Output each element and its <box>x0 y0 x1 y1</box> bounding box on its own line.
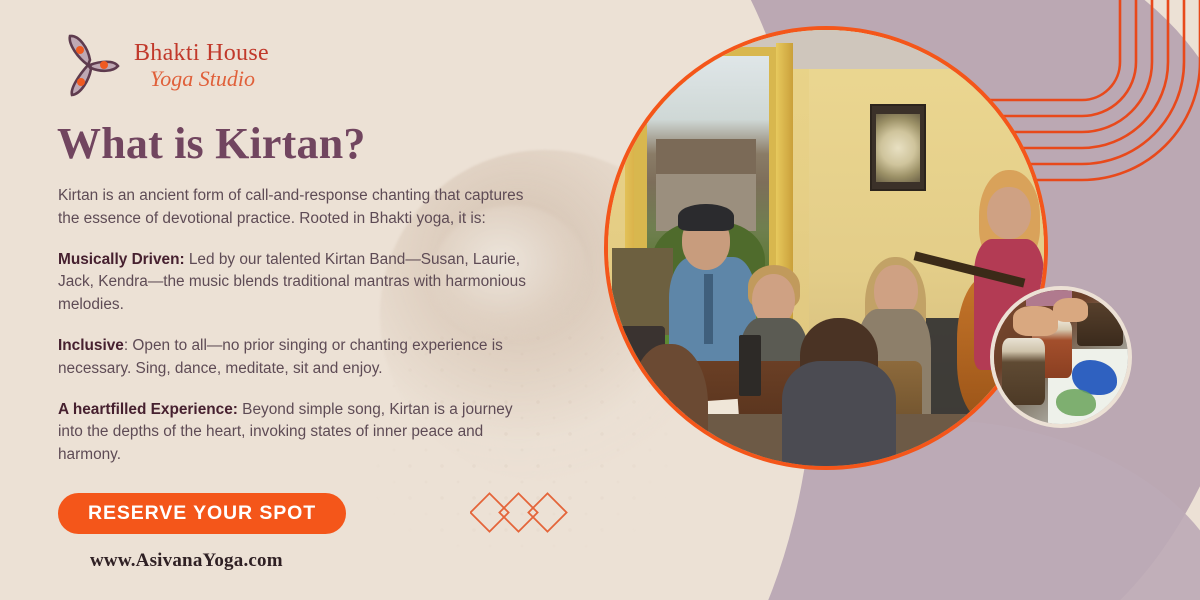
triple-diamond-icon <box>470 492 586 534</box>
point-inclusive: Inclusive: Open to all—no prior singing … <box>58 335 528 381</box>
point-text: : Open to all—no prior singing or chanti… <box>58 337 503 377</box>
point-musically-driven: Musically Driven: Led by our talented Ki… <box>58 249 528 317</box>
point-label: Musically Driven: <box>58 251 185 268</box>
page-title: What is Kirtan? <box>57 118 560 169</box>
kirtan-band-photo <box>608 30 1044 466</box>
point-label: Inclusive <box>58 337 124 354</box>
brand-text: Bhakti House Yoga Studio <box>134 39 269 91</box>
point-heartfilled-experience: A heartfilled Experience: Beyond simple … <box>58 399 528 467</box>
brand-lockup: Bhakti House Yoga Studio <box>58 26 560 104</box>
tabla-drums-photo <box>994 290 1128 424</box>
reserve-your-spot-button[interactable]: RESERVE YOUR SPOT <box>58 493 346 534</box>
intro-paragraph: Kirtan is an ancient form of call-and-re… <box>58 185 528 231</box>
brand-tagline: Yoga Studio <box>134 66 269 91</box>
brand-name: Bhakti House <box>134 41 269 66</box>
trinity-petal-flower-logo-icon <box>58 32 120 98</box>
point-label: A heartfilled Experience: <box>58 401 238 418</box>
website-url[interactable]: www.AsivanaYoga.com <box>90 550 560 572</box>
main-photo-circle <box>604 26 1048 470</box>
inset-photo-circle <box>990 286 1132 428</box>
